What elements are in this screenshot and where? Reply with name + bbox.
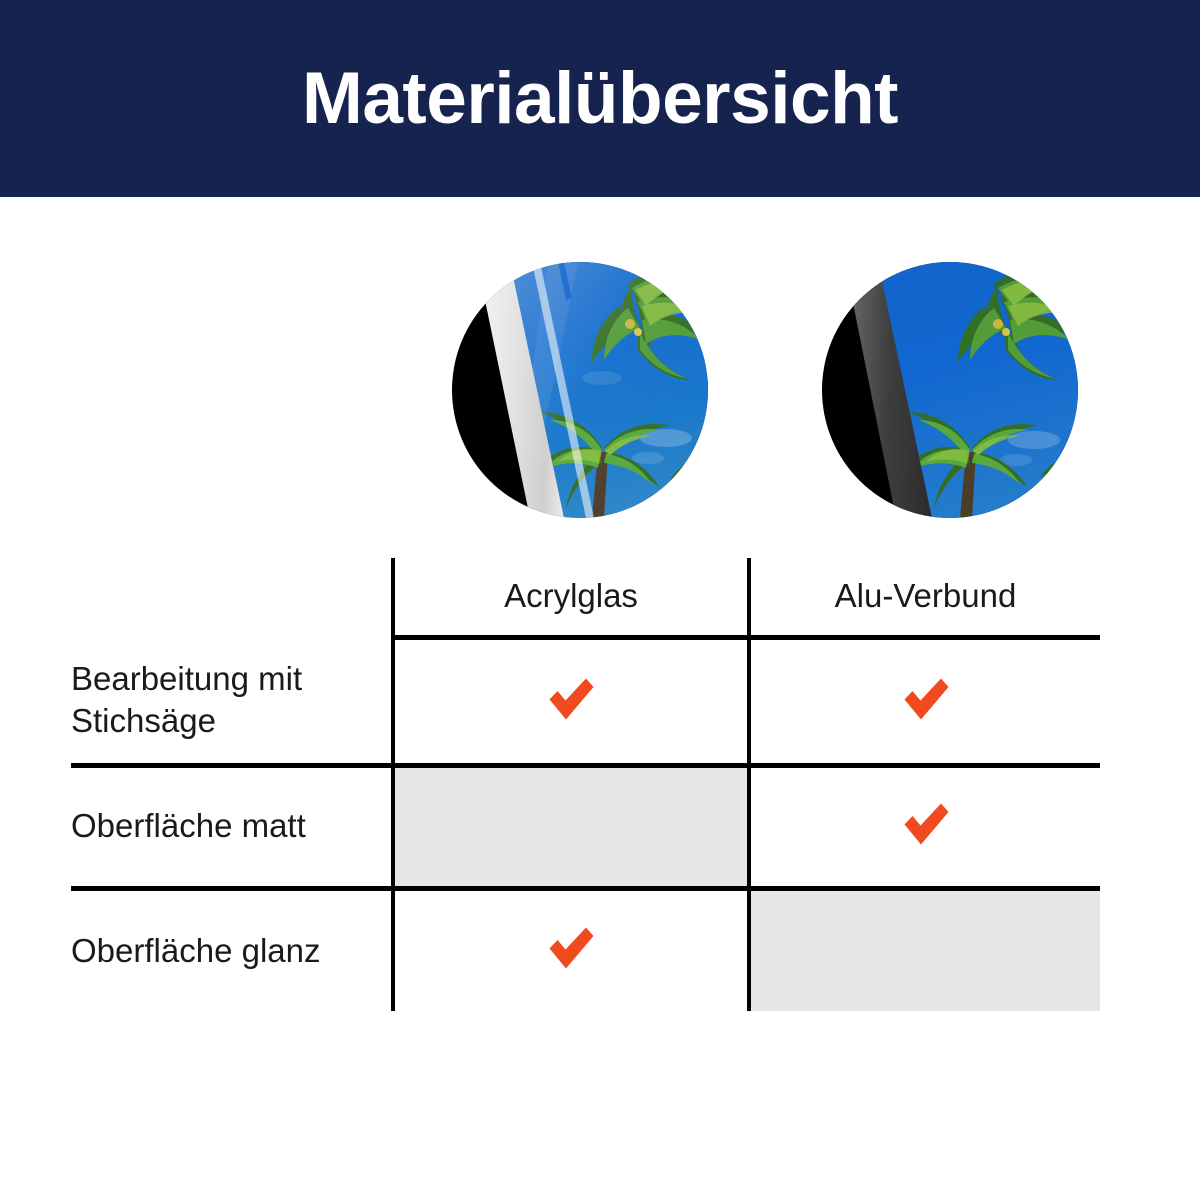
alu-verbund-product-photo [822,262,1078,518]
cell-bearbeitung-alu-verbund [749,637,1100,765]
checkmark-icon [541,675,601,723]
material-comparison-table-wrapper: Acrylglas Alu-Verbund Bearbeitung mit St… [71,558,1100,1011]
table-row: Oberfläche glanz [71,888,1100,1011]
alu-verbund-panel-image [822,262,1078,518]
row-label-line-2: Stichsäge [71,702,216,739]
cell-oberflaeche-glanz-acrylglas [393,888,749,1011]
table-corner-cell [71,558,393,637]
row-label-line-1: Bearbeitung mit [71,660,302,697]
table-row: Bearbeitung mit Stichsäge [71,637,1100,765]
material-comparison-table: Acrylglas Alu-Verbund Bearbeitung mit St… [71,558,1100,1011]
row-label-oberflaeche-matt: Oberfläche matt [71,765,393,888]
product-thumbnail-row [0,262,1200,518]
column-header-alu-verbund: Alu-Verbund [749,558,1100,637]
row-label-oberflaeche-glanz: Oberfläche glanz [71,888,393,1011]
acrylglas-product-photo [452,262,708,518]
checkmark-icon [896,800,956,848]
page-title: Materialübersicht [302,62,898,135]
acrylglas-panel-image [452,262,708,518]
table-row: Oberfläche matt [71,765,1100,888]
column-header-acrylglas: Acrylglas [393,558,749,637]
cell-oberflaeche-matt-acrylglas [393,765,749,888]
row-label-line-1: Oberfläche matt [71,807,306,844]
material-overview-page: Materialübersicht [0,0,1200,1200]
row-label-bearbeitung-mit-stichsaege: Bearbeitung mit Stichsäge [71,637,393,765]
page-header-band: Materialübersicht [0,0,1200,197]
row-label-line-1: Oberfläche glanz [71,932,320,969]
cell-bearbeitung-acrylglas [393,637,749,765]
checkmark-icon [896,675,956,723]
table-header-row: Acrylglas Alu-Verbund [71,558,1100,637]
cell-oberflaeche-glanz-alu-verbund [749,888,1100,1011]
checkmark-icon [541,924,601,972]
cell-oberflaeche-matt-alu-verbund [749,765,1100,888]
